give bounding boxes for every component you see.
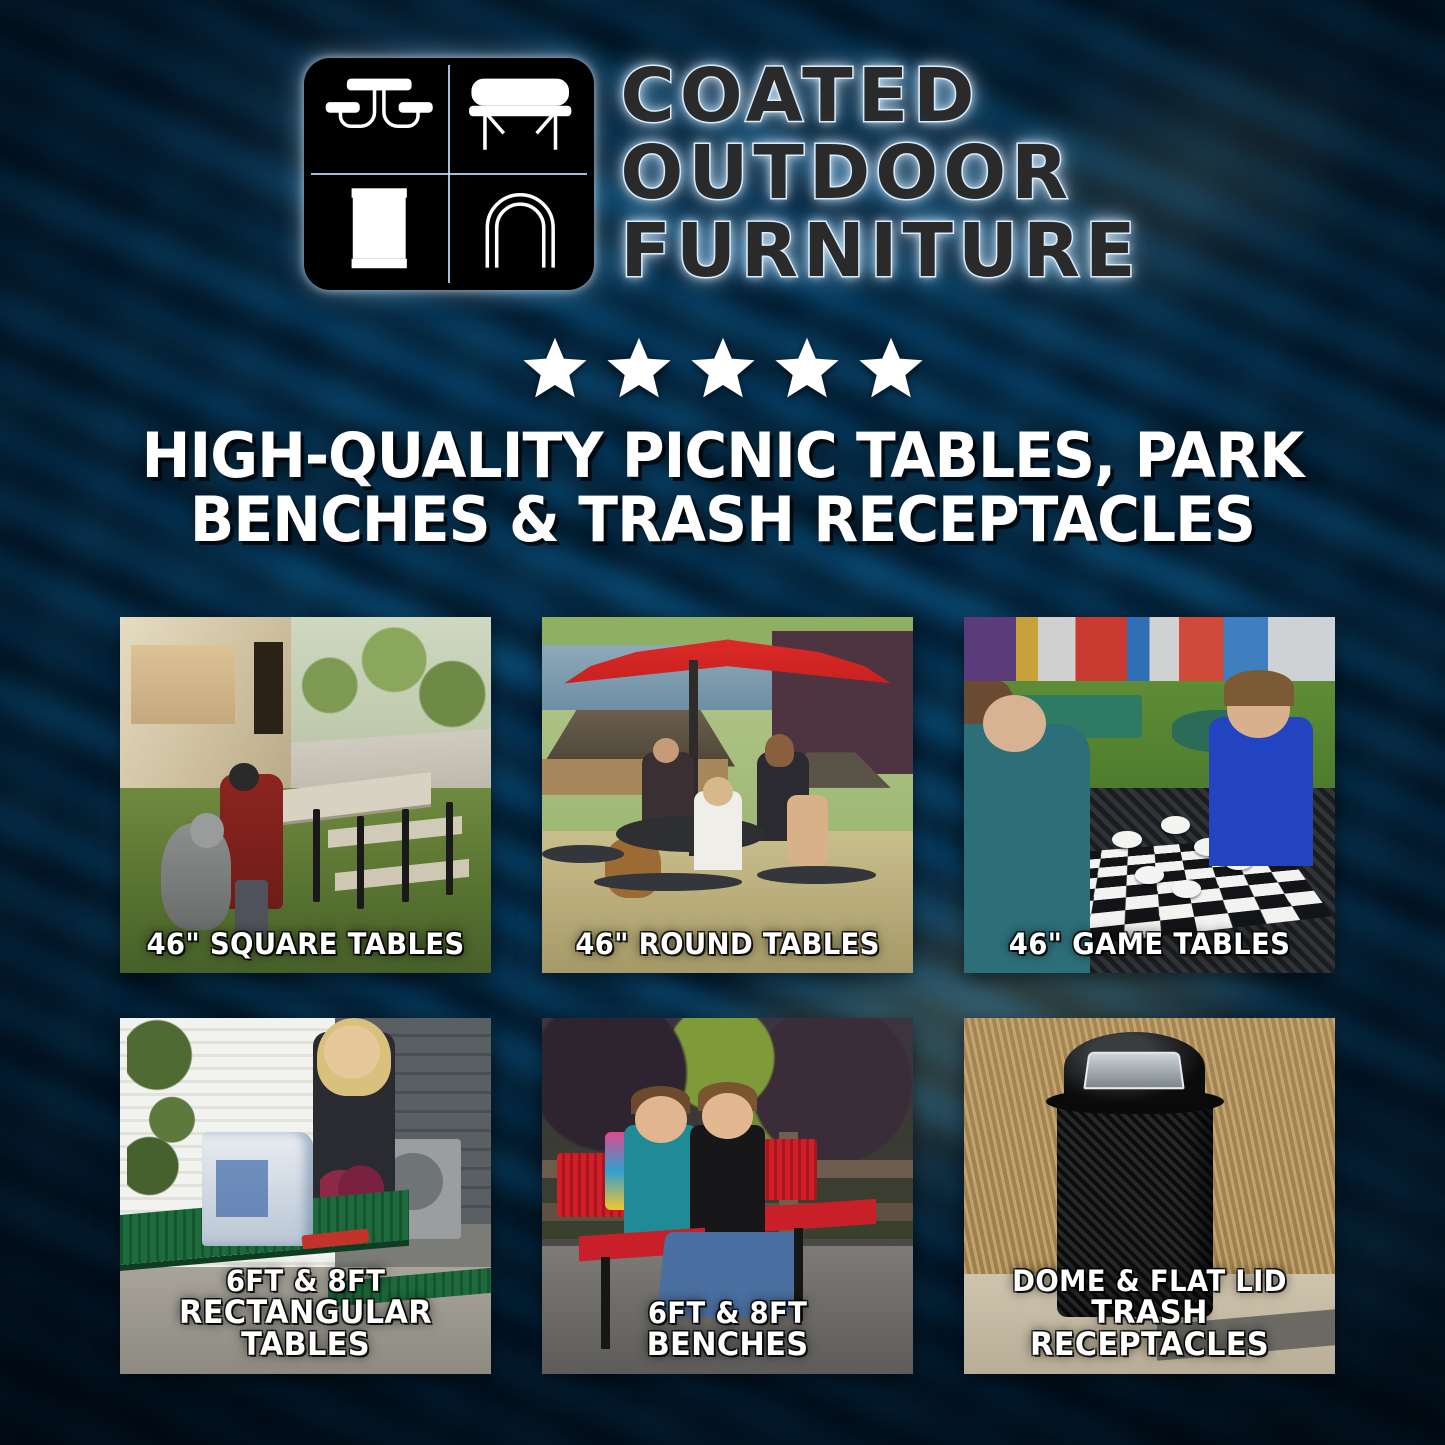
caption-line-1: 46" ROUND TABLES (575, 927, 880, 961)
logo-divider-horizontal (311, 173, 587, 175)
product-caption: 6FT & 8FT RECTANGULAR TABLES (135, 1267, 476, 1360)
product-card-round-tables[interactable]: 46" ROUND TABLES (542, 617, 913, 973)
caption-line-1: 46" GAME TABLES (1009, 927, 1291, 961)
product-card-game-tables[interactable]: 46" GAME TABLES (964, 617, 1335, 973)
product-caption: 6FT & 8FT BENCHES (557, 1299, 898, 1360)
bench-icon (449, 62, 590, 174)
product-card-rectangular-tables[interactable]: 6FT & 8FT RECTANGULAR TABLES (120, 1018, 491, 1374)
product-card-square-tables[interactable]: 46" SQUARE TABLES (120, 617, 491, 973)
caption-line-2: TRASH RECEPTACLES (979, 1296, 1320, 1360)
product-caption: 46" SQUARE TABLES (135, 930, 476, 959)
product-caption: 46" GAME TABLES (979, 930, 1320, 959)
product-grid: 46" SQUARE TABLES (120, 617, 1336, 1374)
brand-name-line-3: FURNITURE (620, 214, 1140, 289)
headline-line-1: HIGH-QUALITY PICNIC TABLES, PARK (100, 424, 1346, 488)
product-photo-round-tables (542, 617, 913, 973)
product-photo-square-tables (120, 617, 491, 973)
product-caption: 46" ROUND TABLES (557, 930, 898, 959)
product-photo-game-tables (964, 617, 1335, 973)
brand-name-line-2: OUTDOOR (620, 136, 1140, 211)
brand-name-line-1: COATED (620, 59, 1140, 134)
trash-receptacle-icon (308, 174, 449, 286)
star-icon (858, 335, 924, 401)
product-caption: DOME & FLAT LID TRASH RECEPTACLES (979, 1267, 1320, 1360)
page-title: HIGH-QUALITY PICNIC TABLES, PARK BENCHES… (100, 424, 1346, 552)
brand-logo: COATED OUTDOOR FURNITURE (0, 58, 1445, 290)
star-rating (0, 335, 1445, 401)
star-icon (690, 335, 756, 401)
bike-rack-icon (449, 174, 590, 286)
caption-line-2: RECTANGULAR TABLES (135, 1296, 476, 1360)
star-icon (774, 335, 840, 401)
product-card-benches[interactable]: 6FT & 8FT BENCHES (542, 1018, 913, 1374)
star-icon (522, 335, 588, 401)
headline-line-2: BENCHES & TRASH RECEPTACLES (100, 488, 1346, 552)
caption-line-1: 46" SQUARE TABLES (146, 927, 464, 961)
logo-mark-quadrants (304, 58, 594, 290)
product-card-trash-receptacles[interactable]: DOME & FLAT LID TRASH RECEPTACLES (964, 1018, 1335, 1374)
star-icon (606, 335, 672, 401)
brand-wordmark: COATED OUTDOOR FURNITURE (620, 59, 1140, 289)
caption-line-2: BENCHES (557, 1328, 898, 1360)
picnic-table-icon (308, 62, 449, 174)
